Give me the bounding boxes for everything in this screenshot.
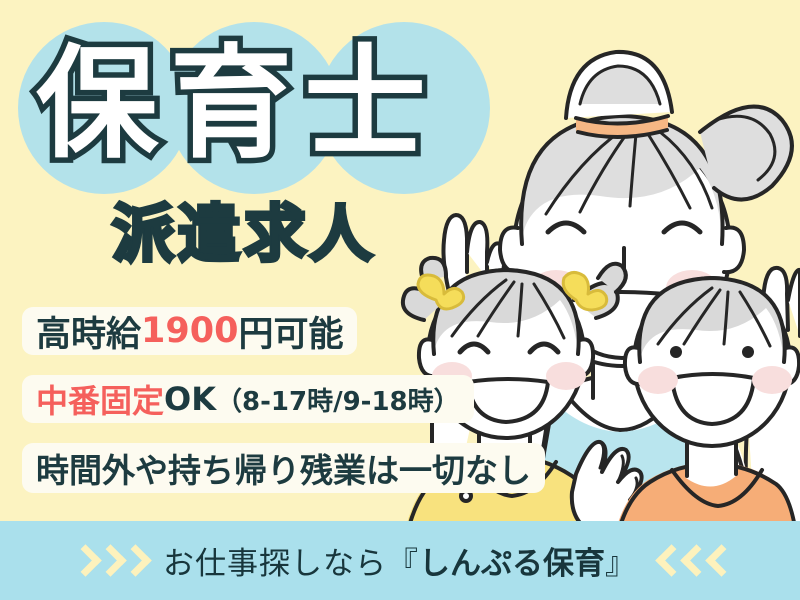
badge-overtime: 時間外や持ち帰り残業は一切なし — [22, 443, 545, 493]
badge-shift: 中番固定OK（8-17時/9-18時） — [22, 375, 474, 423]
badge-wage-part-3: 円可能 — [238, 306, 343, 357]
badge-shift-hours: （8-17時/9-18時） — [216, 381, 460, 418]
badge-overtime-text: 時間外や持ち帰り残業は一切なし — [36, 444, 531, 492]
badge-shift-highlight: 中番固定 — [36, 376, 164, 422]
brand-name: しんぷる保育 — [419, 546, 605, 582]
chevron-right-icon — [97, 544, 116, 578]
badge-shift-ok: OK — [164, 380, 216, 418]
chevron-left-icon — [709, 544, 728, 578]
chevron-left-group — [659, 544, 728, 578]
page-title: 保育士 — [36, 34, 438, 174]
chevron-left-icon — [659, 544, 678, 578]
worker-head — [500, 52, 792, 410]
chevron-right-group — [72, 544, 141, 578]
bottom-cta-text: お仕事探しなら『しんぷる保育』 — [163, 538, 637, 583]
badge-wage-amount: 1900 — [141, 311, 238, 351]
bottom-cta-prefix: お仕事探しなら『 — [163, 546, 419, 582]
chevron-right-icon — [122, 544, 141, 578]
badge-wage-part-1: 高時給 — [36, 306, 141, 357]
page-subtitle: 派遣求人 — [112, 196, 376, 272]
job-ad-banner: 保育士 派遣求人 高時給1900円可能 中番固定OK（8-17時/9-18時） … — [0, 0, 800, 600]
bottom-cta-suffix: 』 — [605, 546, 637, 582]
badge-wage: 高時給1900円可能 — [22, 307, 357, 355]
chevron-right-icon — [72, 544, 91, 578]
chevron-left-icon — [684, 544, 703, 578]
bottom-cta-bar[interactable]: お仕事探しなら『しんぷる保育』 — [0, 521, 800, 600]
